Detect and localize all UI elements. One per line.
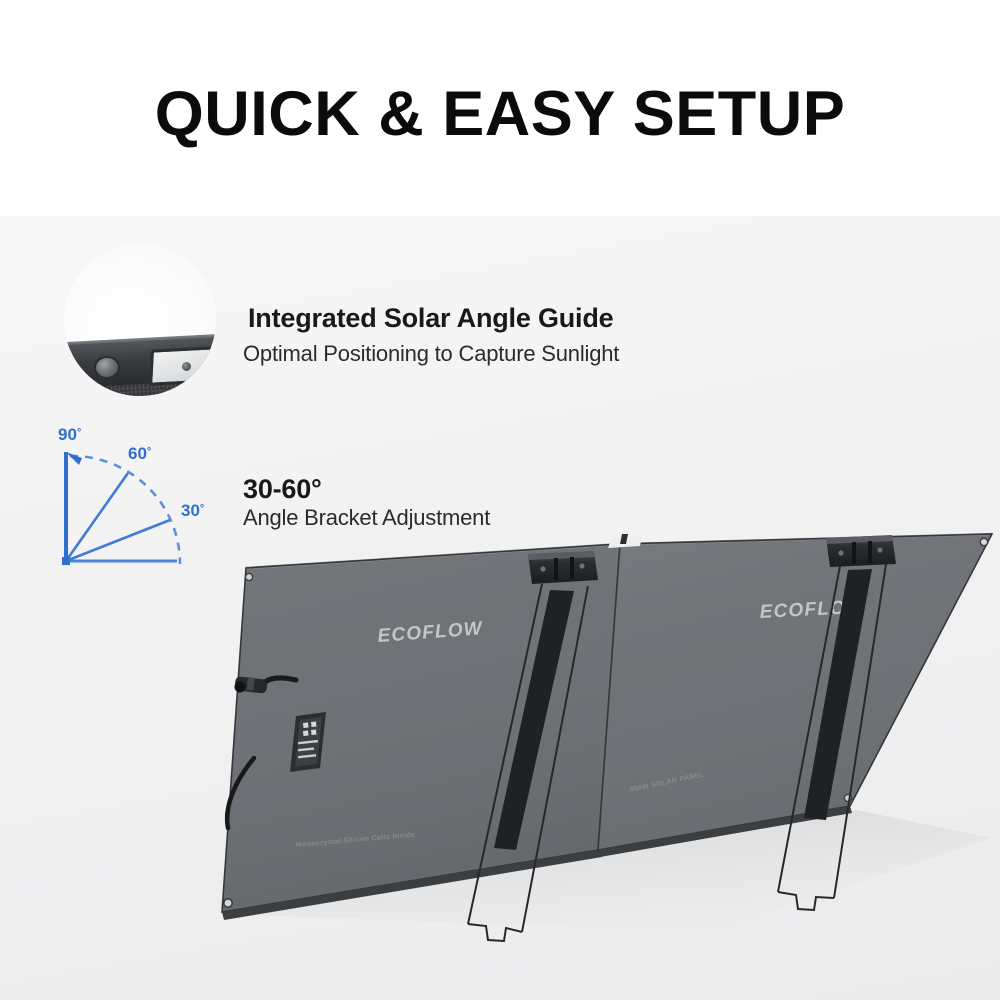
angle-label-90: 90° — [58, 425, 81, 444]
feature-title-angle-bracket: 30-60° — [243, 474, 322, 505]
angle-label-60: 60° — [128, 444, 151, 463]
inset-background — [64, 244, 216, 346]
diagram-arrowhead-icon — [66, 452, 82, 465]
angle-guide-bubble-icon — [182, 362, 191, 371]
hinge-bracket-right — [826, 535, 896, 567]
kickstand-foot-left — [468, 924, 522, 941]
corner-grommet-icon — [245, 573, 252, 580]
page-title: QUICK & EASY SETUP — [0, 78, 1000, 150]
header-band: QUICK & EASY SETUP — [0, 0, 1000, 216]
angle-label-30: 30° — [181, 501, 204, 520]
solar-panel-right: ECOFLOW 400W SOLAR PANEL — [590, 528, 1000, 868]
solar-angle-guide-closeup-icon — [64, 244, 216, 396]
solar-panel-product-image: ECOFLOW Monocrystal Silicon Cells Inside — [150, 520, 1000, 960]
diagram-origin — [62, 557, 70, 565]
feature-subtitle-solar-angle-guide: Optimal Positioning to Capture Sunlight — [243, 341, 619, 367]
product-feature-graphic: QUICK & EASY SETUP Integrated Solar Angl… — [0, 0, 1000, 1000]
feature-title-solar-angle-guide: Integrated Solar Angle Guide — [248, 303, 613, 334]
corner-grommet-icon — [980, 538, 988, 546]
corner-grommet-icon — [224, 899, 232, 907]
hinge-bracket-left — [528, 551, 598, 584]
